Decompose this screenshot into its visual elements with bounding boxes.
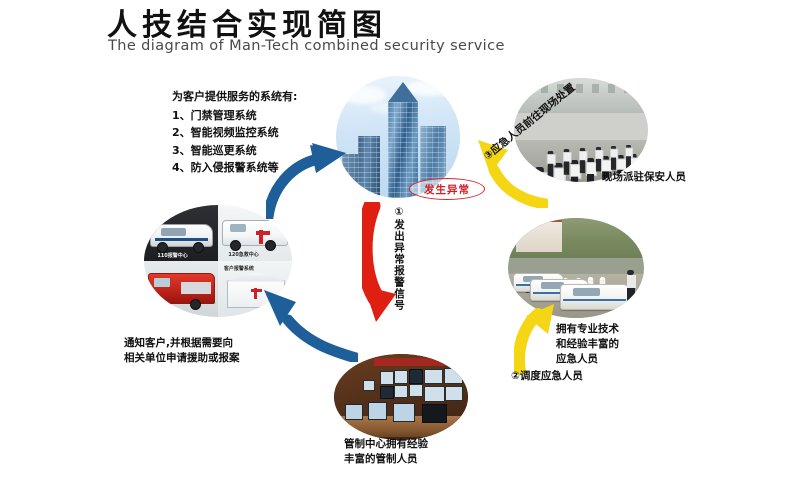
building-left <box>358 136 380 198</box>
yellow-arrow-up <box>514 296 564 374</box>
uniform-trousers <box>587 174 594 182</box>
wheel <box>230 240 241 251</box>
truck-body <box>181 282 211 294</box>
supervisor-figure <box>627 270 636 302</box>
label-fire-center: 119火警中心 <box>151 309 181 316</box>
video-wall-screen <box>394 385 408 398</box>
wheel <box>190 299 201 310</box>
system-list-item-1: 1、门禁管理系统 <box>172 107 347 125</box>
cloud-shape <box>340 86 386 104</box>
uniform-trousers <box>596 158 601 171</box>
window-grid <box>358 136 380 198</box>
uniform-trousers <box>627 288 635 302</box>
caption-line: 丰富的管制人员 <box>344 452 468 467</box>
caption-line: 拥有专业技术 <box>556 322 652 337</box>
video-wall-screen <box>424 386 445 402</box>
step-2-label: ②调度应急人员 <box>511 368 583 383</box>
wheel <box>265 240 276 251</box>
background-window <box>608 84 615 93</box>
page-subtitle: The diagram of Man-Tech combined securit… <box>108 38 505 54</box>
video-wall-screen <box>424 369 443 385</box>
video-wall-screen <box>444 368 463 384</box>
uniform-trousers <box>571 177 578 182</box>
uniform-shirt <box>627 275 636 288</box>
caption-emergency-response-team: 拥有专业技术 和经验丰富的 应急人员 <box>556 322 652 367</box>
video-wall-screen <box>409 369 423 383</box>
wheel <box>193 242 204 253</box>
diagram-canvas: 人技结合实现简图 The diagram of Man-Tech combine… <box>0 0 802 477</box>
uniform-trousers <box>580 160 585 173</box>
operator-monitor <box>368 402 387 419</box>
car-window <box>161 228 186 236</box>
video-wall-screen <box>409 384 423 397</box>
background-window <box>624 84 631 93</box>
caption-line: 管制中心拥有经验 <box>344 437 468 452</box>
uniform-trousers <box>548 164 554 178</box>
car-window <box>573 288 600 296</box>
car-stripe <box>155 238 208 241</box>
video-wall-screen <box>363 380 374 391</box>
video-wall-screen <box>394 370 408 384</box>
shelter-roof <box>225 272 288 281</box>
operator-monitor <box>393 403 415 422</box>
background-window <box>541 84 548 93</box>
caption-line: 和经验丰富的 <box>556 337 652 352</box>
car-window <box>154 278 170 287</box>
photo-control-center <box>334 354 468 440</box>
system-list-item-2: 2、智能视频监控系统 <box>172 124 347 142</box>
blue-arrow-up-left <box>262 288 358 362</box>
car-stripe <box>563 299 626 301</box>
video-wall-screen <box>445 386 463 401</box>
blue-arrow-up-right <box>266 143 350 219</box>
step-1-label: ①发出异常报警信号 <box>392 206 405 322</box>
patrol-car <box>560 284 630 310</box>
video-wall-screen <box>380 371 394 385</box>
status-badge-abnormal-event: 发生异常 <box>409 178 485 200</box>
label-customer-alarm: 客户报警系统 <box>224 265 254 272</box>
operator-monitor <box>345 404 363 420</box>
uniform-trousers <box>626 156 631 168</box>
caption-line: 应急人员 <box>556 352 652 367</box>
red-cross-icon <box>256 231 270 235</box>
quadrant-police: 110报警中心 <box>144 205 218 261</box>
label-medical-center: 120急救中心 <box>228 251 258 258</box>
red-cross-icon <box>251 289 262 292</box>
caption-onsite-security-guards: 现场派驻保安人员 <box>602 170 686 185</box>
background-window <box>592 84 599 93</box>
operator-monitor <box>422 404 447 423</box>
system-list-heading: 为客户提供服务的系统有: <box>172 88 347 106</box>
background-window <box>525 84 532 93</box>
caption-control-center: 管制中心拥有经验 丰富的管制人员 <box>344 437 468 467</box>
quadrant-fire: 119火警中心 <box>144 261 218 317</box>
label-police-center: 110报警中心 <box>157 252 187 259</box>
car-window <box>230 224 247 232</box>
video-wall-screen <box>380 386 394 399</box>
background-building <box>516 222 562 252</box>
ceiling-accent <box>374 358 465 366</box>
uniform-trousers <box>564 161 569 174</box>
uniform-trousers <box>611 157 616 169</box>
uniform-trousers <box>555 181 563 182</box>
